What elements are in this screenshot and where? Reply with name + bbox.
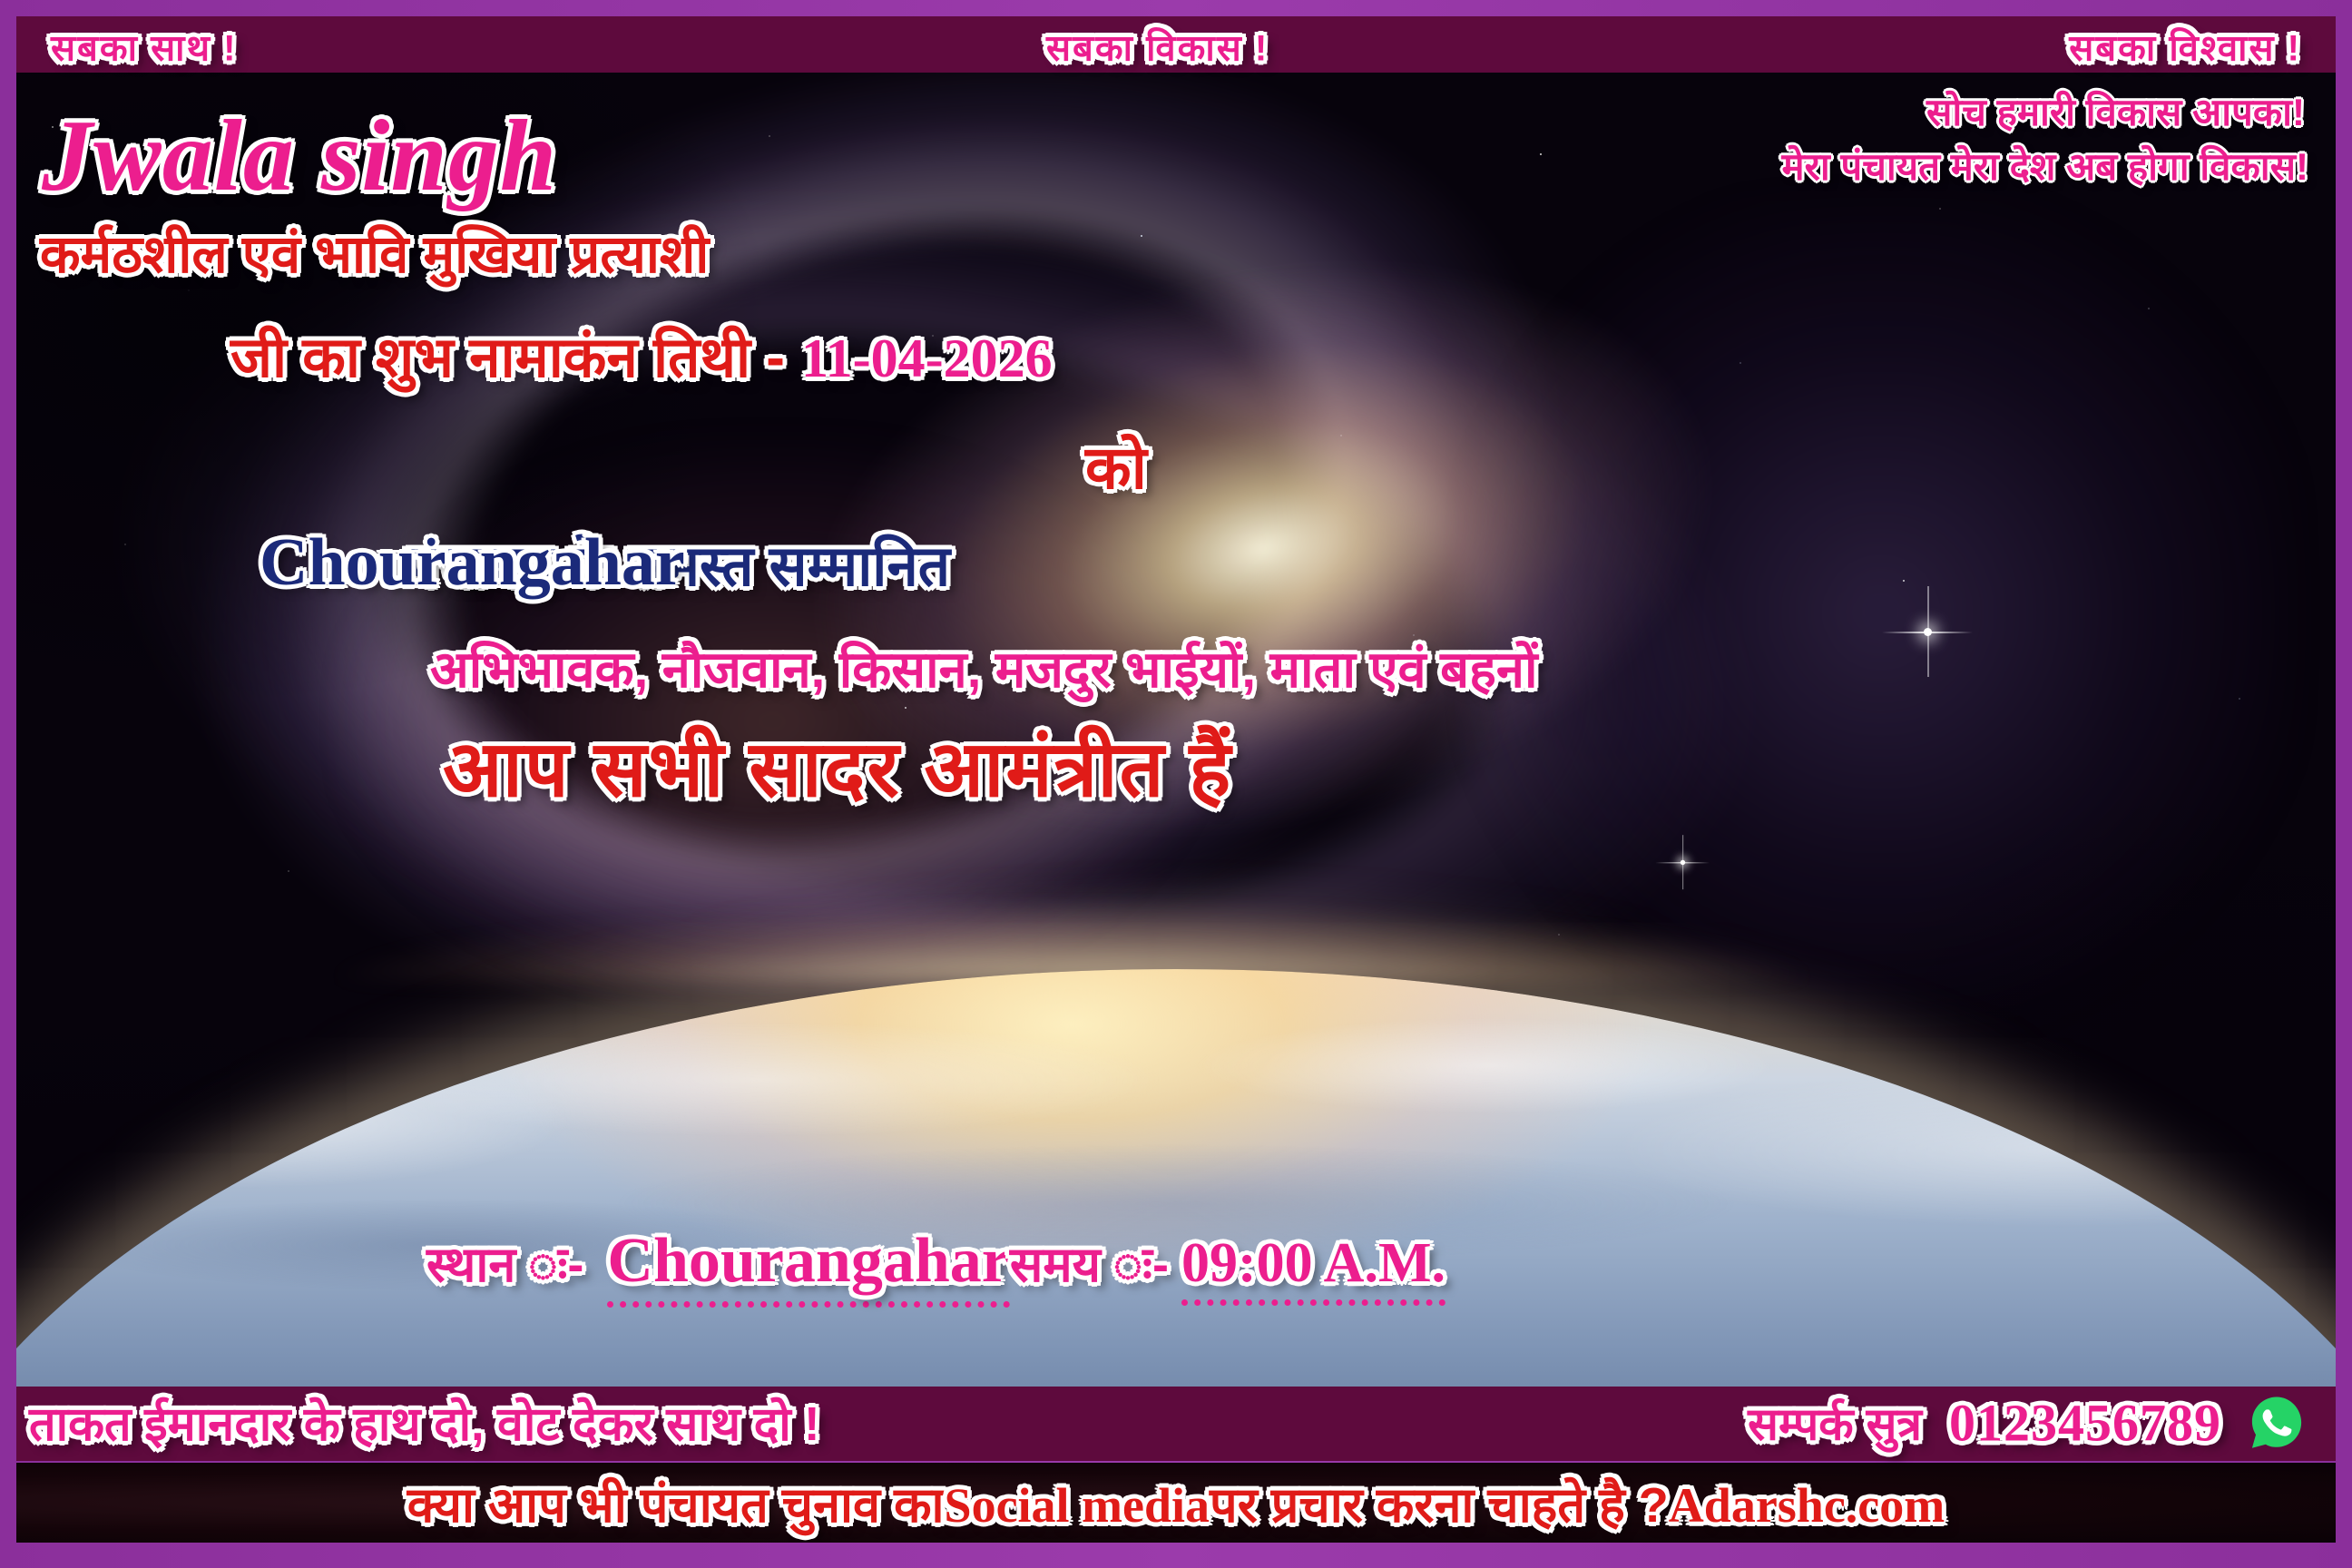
ko-word: को <box>1085 425 1147 506</box>
promo-band: क्या आप भी पंचायत चुनाव का Social media … <box>16 1463 2336 1543</box>
corner-slogan-line1: सोच हमारी विकास आपका! <box>1926 85 2305 137</box>
venue-value: Chourangahar <box>607 1225 1009 1308</box>
top-slogan-band: सबका साथ ! सबका विकास ! सबका विश्वास ! <box>16 16 2336 73</box>
election-poster: सबका साथ ! सबका विकास ! सबका विश्वास ! स… <box>0 0 2352 1568</box>
contact-number[interactable]: 0123456789 <box>1949 1392 2221 1453</box>
venue-time-line: स्थान ः- Chourangahar समय ः- 09:00 A.M. <box>426 1225 1445 1308</box>
slogan-sabka-vishwas: सबका विश्वास ! <box>2069 22 2301 72</box>
candidate-role: कर्मठशील एवं भावि मुखिया प्रत्याशी <box>40 216 709 288</box>
promo-part2: पर प्रचार करना चाहते है ? <box>1210 1469 1669 1536</box>
slogan-sabka-saath: सबका साथ ! <box>51 22 237 72</box>
promo-line: क्या आप भी पंचायत चुनाव का Social media … <box>407 1469 1945 1536</box>
time-label: समय ः- <box>1010 1229 1169 1296</box>
contact-group: सम्पर्क सुत्र 0123456789 <box>1748 1392 2305 1454</box>
panchayat-name: Chourangahar <box>260 524 685 602</box>
candidate-name: Jwala singh <box>42 98 557 215</box>
whatsapp-icon[interactable] <box>2249 1395 2305 1451</box>
venue-label: स्थान ः- <box>426 1229 583 1296</box>
promo-highlight: Social media <box>945 1477 1210 1534</box>
corner-slogan-line2: मेरा पंचायत मेरा देश अब होगा विकास! <box>1782 140 2308 191</box>
nomination-date: 11-04-2026 <box>801 328 1053 390</box>
footer-band: ताकत ईमानदार के हाथ दो, वोट देकर साथ दो … <box>16 1387 2336 1461</box>
audience-list: अभिभावक, नौजवान, किसान, मजदुर भाईयों, मा… <box>430 633 1537 702</box>
nomination-prefix: जी का शुभ नामाकंन तिथी - <box>230 318 785 394</box>
vote-slogan: ताकत ईमानदार के हाथ दो, वोट देकर साथ दो … <box>29 1390 819 1455</box>
promo-part1: क्या आप भी पंचायत चुनाव का <box>407 1469 945 1536</box>
time-value: 09:00 A.M. <box>1181 1231 1445 1306</box>
poster-body: सोच हमारी विकास आपका! मेरा पंचायत मेरा द… <box>16 73 2336 1387</box>
nomination-date-line: जी का शुभ नामाकंन तिथी - 11-04-2026 <box>230 318 1053 394</box>
slogan-sabka-vikas: सबका विकास ! <box>1046 22 1269 72</box>
promo-website[interactable]: Adarshc.com <box>1669 1477 1945 1534</box>
invitation-text: आप सभी सादर आमंत्रीत हैं <box>443 713 1232 819</box>
contact-label: सम्पर्क सुत्र <box>1748 1392 1922 1454</box>
